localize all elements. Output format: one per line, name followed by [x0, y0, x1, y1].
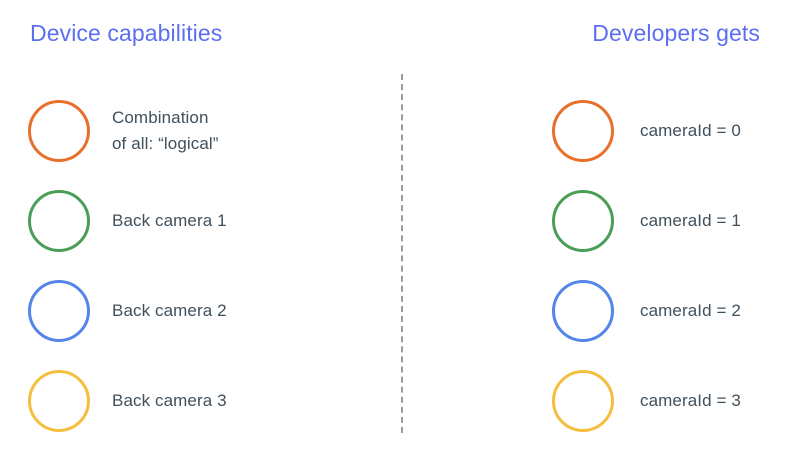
vertical-dashed-divider	[401, 74, 403, 433]
circle-orange	[552, 100, 614, 162]
capability-label: Back camera 3	[112, 388, 227, 414]
circle-orange	[28, 100, 90, 162]
capability-label: Back camera 2	[112, 298, 227, 324]
capability-row: Back camera 2	[28, 266, 368, 356]
right-column-heading: Developers gets	[592, 20, 760, 47]
capability-row: Back camera 1	[28, 176, 368, 266]
capability-label: Combination of all: “logical”	[112, 105, 219, 157]
developers-gets-column: cameraId = 0 cameraId = 1 cameraId = 2 c…	[552, 86, 800, 446]
camera-id-row: cameraId = 1	[552, 176, 800, 266]
camera-id-label: cameraId = 1	[640, 208, 741, 234]
capability-row: Back camera 3	[28, 356, 368, 446]
device-capabilities-column: Combination of all: “logical” Back camer…	[28, 86, 368, 446]
circle-yellow	[28, 370, 90, 432]
capability-row: Combination of all: “logical”	[28, 86, 368, 176]
circle-blue	[552, 280, 614, 342]
capability-label: Back camera 1	[112, 208, 227, 234]
camera-id-row: cameraId = 2	[552, 266, 800, 356]
circle-green	[28, 190, 90, 252]
circle-green	[552, 190, 614, 252]
camera-id-label: cameraId = 3	[640, 388, 741, 414]
diagram-canvas: Device capabilities Developers gets Comb…	[0, 0, 800, 467]
camera-id-label: cameraId = 2	[640, 298, 741, 324]
camera-id-row: cameraId = 0	[552, 86, 800, 176]
circle-blue	[28, 280, 90, 342]
camera-id-row: cameraId = 3	[552, 356, 800, 446]
left-column-heading: Device capabilities	[30, 20, 222, 47]
circle-yellow	[552, 370, 614, 432]
camera-id-label: cameraId = 0	[640, 118, 741, 144]
